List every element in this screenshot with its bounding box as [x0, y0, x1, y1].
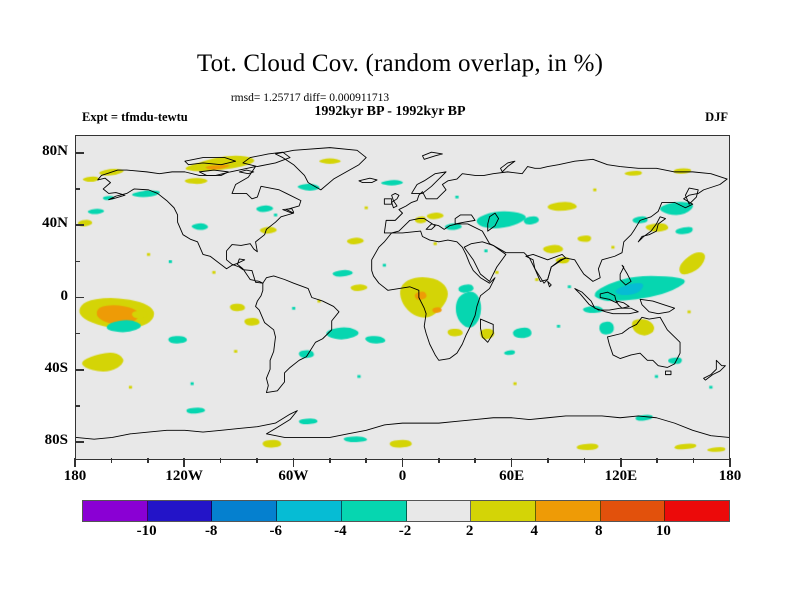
x-axis-tick-minor [111, 458, 113, 463]
x-axis-tick-minor [547, 458, 549, 463]
coastline-path [455, 215, 475, 224]
coastline-path [243, 152, 290, 166]
colorbar-tick-label: -6 [248, 523, 304, 540]
x-axis-tick-minor [256, 458, 258, 463]
season-label: DJF [705, 110, 728, 125]
coastline-path [384, 159, 727, 283]
x-axis-label: 0 [368, 468, 438, 485]
coastline-layer [76, 136, 729, 459]
coastline-path [548, 281, 552, 286]
x-axis-tick-minor [474, 458, 476, 463]
coastline-path [422, 152, 442, 159]
colorbar[interactable] [82, 500, 730, 522]
coastline-path [617, 301, 630, 308]
coastline-path [665, 371, 670, 375]
x-axis-tick-minor [147, 458, 149, 463]
y-axis-tick-major [75, 297, 84, 299]
y-axis-tick-minor [75, 261, 80, 263]
coastline-path [392, 193, 399, 207]
x-axis-tick-minor [693, 458, 695, 463]
x-axis-tick-minor [584, 458, 586, 463]
x-axis-tick-minor [656, 458, 658, 463]
x-axis-label: 120E [586, 468, 656, 485]
coastline-path [256, 276, 339, 393]
x-axis-label: 180 [40, 468, 110, 485]
y-axis-label: 80N [4, 143, 68, 160]
x-axis-tick-minor [329, 458, 331, 463]
colorbar-tick-label: -10 [119, 523, 175, 540]
coastline-path [199, 170, 228, 175]
colorbar-segment[interactable] [277, 501, 342, 521]
y-axis-label: 40S [4, 360, 68, 377]
colorbar-segment[interactable] [471, 501, 536, 521]
x-axis-tick-major [74, 458, 76, 467]
y-axis-tick-major [75, 369, 84, 371]
coastline-path [500, 161, 514, 172]
y-axis-label: 0 [4, 288, 68, 305]
x-axis-label: 60E [477, 468, 547, 485]
map-plot-area [75, 135, 730, 460]
figure-root: Tot. Cloud Cov. (random overlap, in %) r… [0, 0, 800, 600]
colorbar-segment[interactable] [665, 501, 729, 521]
coastline-path [640, 299, 674, 313]
coastline-path [638, 217, 665, 242]
coastline-path [275, 148, 366, 190]
x-axis-label: 120W [149, 468, 219, 485]
statistics-annotation: rmsd= 1.25717 diff= 0.000911713 [0, 92, 620, 104]
coastline-path [359, 178, 377, 182]
colorbar-segment[interactable] [212, 501, 277, 521]
x-axis-tick-major [511, 458, 513, 467]
x-axis-label: 180 [695, 468, 765, 485]
y-axis-tick-minor [75, 188, 80, 190]
x-axis-tick-minor [438, 458, 440, 463]
x-axis-label: 60W [258, 468, 328, 485]
y-axis-tick-major [75, 224, 84, 226]
y-axis-tick-minor [75, 405, 80, 407]
x-axis-tick-major [729, 458, 731, 467]
y-axis-tick-major [75, 152, 84, 154]
coastline-path [526, 254, 566, 281]
colorbar-segment[interactable] [407, 501, 472, 521]
experiment-label: Expt = tfmdu-tewtu [82, 110, 188, 125]
y-axis-tick-major [75, 441, 84, 443]
x-axis-tick-major [183, 458, 185, 467]
coastline-path [98, 167, 301, 284]
coastline-path [185, 158, 236, 165]
page-title: Tot. Cloud Cov. (random overlap, in %) [0, 50, 800, 78]
coastline-path [384, 199, 391, 204]
colorbar-tick-label: 4 [506, 523, 562, 540]
x-axis-tick-minor [365, 458, 367, 463]
coastline-path [412, 172, 446, 194]
y-axis-tick-minor [75, 333, 80, 335]
colorbar-tick-label: -8 [183, 523, 239, 540]
y-axis-label: 40N [4, 215, 68, 232]
colorbar-segment[interactable] [536, 501, 601, 521]
x-axis-tick-major [293, 458, 295, 467]
colorbar-segment[interactable] [148, 501, 213, 521]
coastline-path [480, 319, 493, 342]
x-axis-tick-minor [220, 458, 222, 463]
x-axis-tick-major [402, 458, 404, 467]
x-axis-tick-major [620, 458, 622, 467]
colorbar-segment[interactable] [601, 501, 666, 521]
coastline-path [600, 292, 616, 303]
coastline-path [76, 411, 729, 440]
coastline-path [704, 360, 726, 380]
colorbar-tick-label: 8 [571, 523, 627, 540]
coastline-path [372, 231, 495, 360]
coastline-path [464, 242, 506, 282]
colorbar-tick-label: 2 [442, 523, 498, 540]
colorbar-segment[interactable] [342, 501, 407, 521]
colorbar-segment[interactable] [83, 501, 148, 521]
colorbar-tick-label: -2 [377, 523, 433, 540]
coastline-path [620, 265, 631, 285]
coastline-path [488, 213, 499, 231]
coastline-path [607, 317, 680, 367]
y-axis-label: 80S [4, 432, 68, 449]
colorbar-tick-label: -4 [312, 523, 368, 540]
colorbar-tick-label: 10 [635, 523, 691, 540]
